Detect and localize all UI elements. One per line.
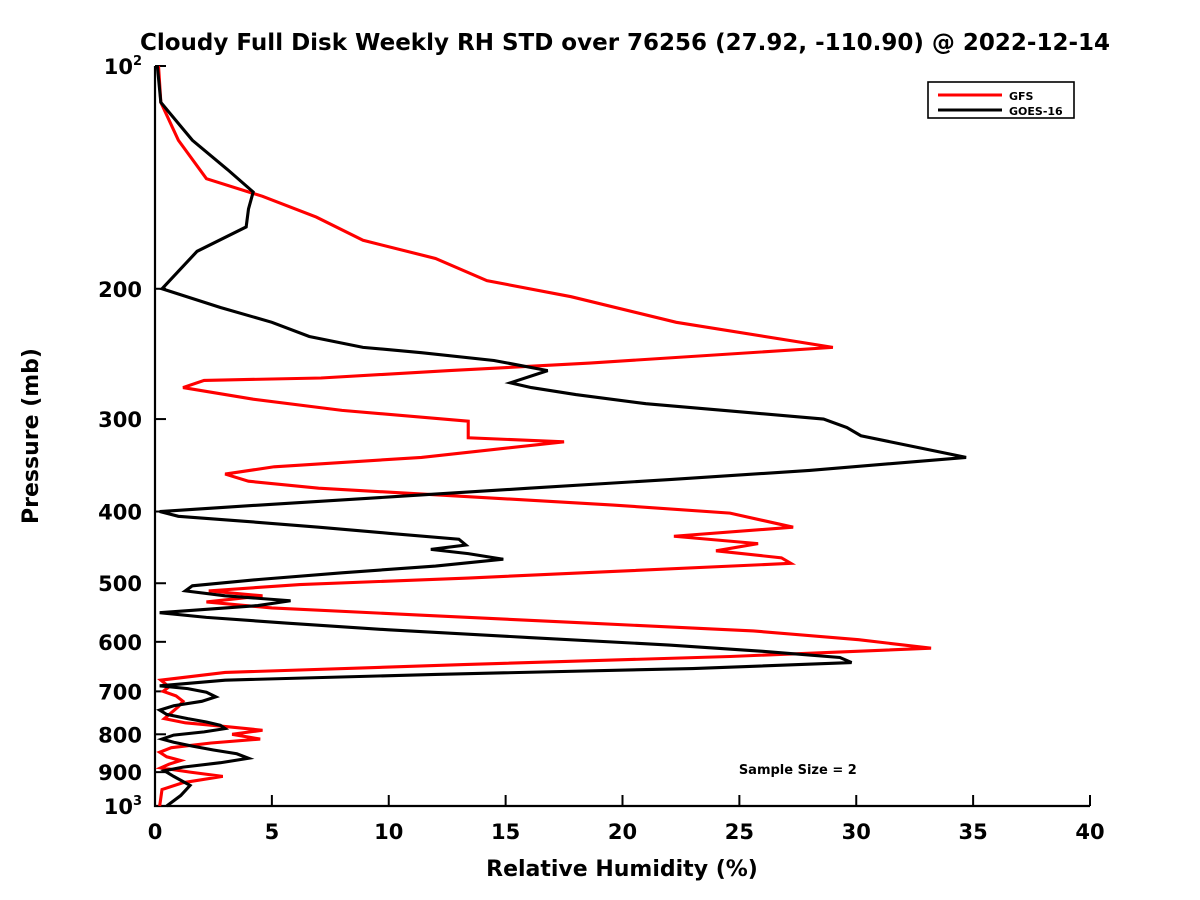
x-axis-label: Relative Humidity (%) bbox=[486, 857, 758, 882]
x-tick-label: 10 bbox=[374, 820, 403, 844]
annotations-group: Sample Size = 2 bbox=[739, 763, 857, 778]
x-tick-label: 5 bbox=[265, 820, 280, 844]
x-axis-ticks: 0510152025303540 bbox=[148, 795, 1105, 844]
y-tick-label: 300 bbox=[98, 408, 142, 432]
y-tick-label: 200 bbox=[98, 278, 142, 302]
x-tick-label: 35 bbox=[959, 820, 988, 844]
series-group bbox=[157, 66, 966, 806]
legend-label-gfs: GFS bbox=[1009, 90, 1034, 103]
y-tick-label: 103 bbox=[104, 794, 142, 819]
relative-humidity-profile-chart: Cloudy Full Disk Weekly RH STD over 7625… bbox=[0, 0, 1200, 900]
x-tick-label: 15 bbox=[491, 820, 520, 844]
axes-frame bbox=[155, 66, 1090, 806]
y-tick-label: 500 bbox=[98, 572, 142, 596]
y-tick-label: 600 bbox=[98, 631, 142, 655]
chart-legend[interactable]: GFS GOES-16 bbox=[928, 82, 1074, 118]
sample-size-annotation: Sample Size = 2 bbox=[739, 763, 857, 778]
series-line-goes-16 bbox=[157, 66, 966, 806]
x-tick-label: 40 bbox=[1075, 820, 1104, 844]
series-line-gfs bbox=[159, 66, 932, 806]
y-axis-label: Pressure (mb) bbox=[19, 348, 44, 524]
y-tick-label: 700 bbox=[98, 680, 142, 704]
y-tick-label: 102 bbox=[104, 54, 142, 79]
x-tick-label: 0 bbox=[148, 820, 163, 844]
chart-title: Cloudy Full Disk Weekly RH STD over 7625… bbox=[140, 30, 1110, 56]
legend-label-goes16: GOES-16 bbox=[1009, 105, 1063, 118]
chart-figure: Cloudy Full Disk Weekly RH STD over 7625… bbox=[0, 0, 1200, 900]
x-tick-label: 25 bbox=[725, 820, 754, 844]
x-tick-label: 30 bbox=[842, 820, 871, 844]
y-tick-label: 900 bbox=[98, 761, 142, 785]
x-tick-label: 20 bbox=[608, 820, 637, 844]
y-tick-label: 800 bbox=[98, 723, 142, 747]
y-tick-label: 400 bbox=[98, 501, 142, 525]
